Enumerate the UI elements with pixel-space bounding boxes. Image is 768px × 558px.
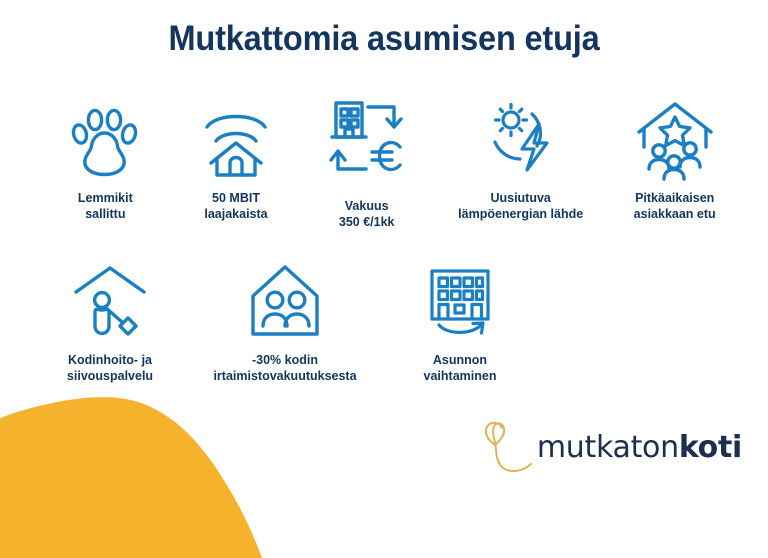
infographic-poster: Mutkattomia asumisen etuja Lemmikit sall… (0, 0, 768, 512)
feature-label: Pitkäaikaisen asiakkaan etu (634, 190, 716, 222)
feature-loyal-customer: Pitkäaikaisen asiakkaan etu (609, 100, 740, 222)
heart-swoosh-icon (477, 418, 533, 478)
feature-label: Kodinhoito- ja siivouspalvelu (67, 352, 153, 384)
feature-pets-allowed: Lemmikit sallittu (40, 100, 171, 222)
feature-label: -30% kodin irtaimistovakuutuksesta (213, 352, 356, 384)
sun-lightning-icon (479, 100, 563, 180)
house-star-people-icon (634, 100, 716, 180)
roof-cleaning-person-icon (70, 262, 150, 342)
feature-deposit: Vakuus 350 €/1kk (301, 100, 432, 230)
feature-insurance-discount: -30% kodin irtaimistovakuutuksesta (190, 262, 380, 384)
building-euro-exchange-icon (324, 100, 410, 180)
feature-renewable-energy: Uusiutuva lämpöenergian lähde (432, 100, 609, 222)
brand-name-bold: koti (679, 430, 742, 465)
amber-blob-decoration (0, 388, 290, 558)
feature-label: Uusiutuva lämpöenergian lähde (458, 190, 583, 222)
feature-label: 50 MBIT laajakaista (204, 190, 267, 222)
feature-row-2: Kodinhoito- ja siivouspalvelu -30% kodin… (40, 262, 530, 384)
feature-label: Vakuus 350 €/1kk (339, 198, 395, 230)
page-title: Mutkattomia asumisen etuja (27, 18, 741, 60)
house-two-people-icon (245, 262, 325, 342)
wifi-house-icon (197, 100, 275, 180)
feature-apartment-swap: Asunnon vaihtaminen (390, 262, 530, 384)
feature-label: Lemmikit sallittu (78, 190, 133, 222)
brand-wordmark: mutkatonkoti (537, 433, 742, 463)
paw-print-icon (66, 100, 144, 180)
feature-cleaning-service: Kodinhoito- ja siivouspalvelu (40, 262, 180, 384)
brand-logo[interactable]: mutkatonkoti (477, 418, 742, 478)
brand-name-light: mutkaton (537, 430, 679, 465)
feature-broadband: 50 MBIT laajakaista (171, 100, 302, 222)
feature-row-1: Lemmikit sallittu 50 MBIT laajakaista (40, 100, 740, 230)
apartment-swap-icon (421, 262, 499, 342)
feature-label: Asunnon vaihtaminen (424, 352, 497, 384)
